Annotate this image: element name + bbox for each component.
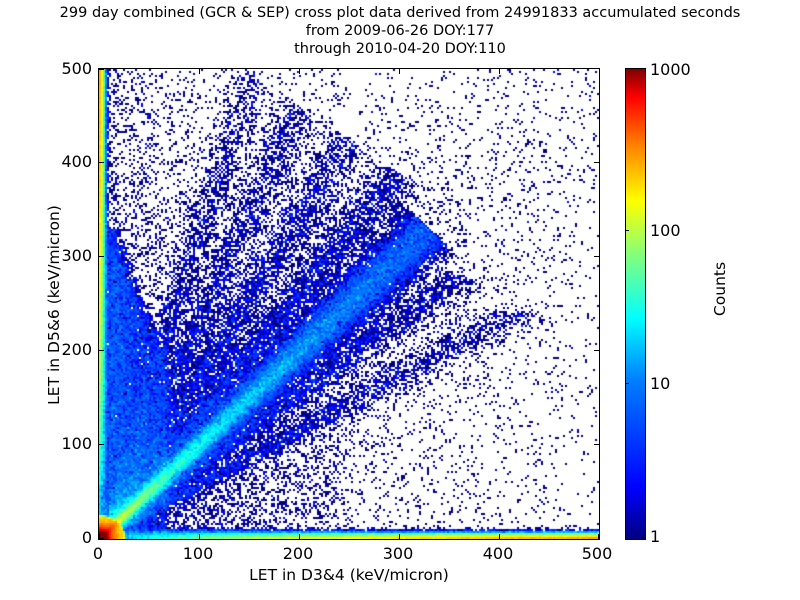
xticklabel-100: 100 bbox=[163, 544, 233, 563]
ytick-500 bbox=[99, 69, 104, 70]
xtick-top-400 bbox=[499, 69, 500, 74]
xtick-top-300 bbox=[399, 69, 400, 74]
cbticklabel-100: 100 bbox=[650, 221, 681, 240]
ytick-right-100 bbox=[594, 444, 599, 445]
xtick-top-200 bbox=[299, 69, 300, 74]
colorbar[interactable] bbox=[625, 68, 646, 540]
xticklabel-400: 400 bbox=[463, 544, 533, 563]
ytick-400 bbox=[99, 162, 104, 163]
scatter-density-canvas bbox=[99, 69, 599, 539]
xtick-400 bbox=[499, 534, 500, 539]
title-line-2: from 2009-06-26 DOY:177 bbox=[0, 22, 800, 40]
ytick-200 bbox=[99, 350, 104, 351]
figure-title: 299 day combined (GCR & SEP) cross plot … bbox=[0, 4, 800, 58]
cbtick-100 bbox=[625, 230, 629, 231]
ytick-100 bbox=[99, 444, 104, 445]
xticklabel-500: 500 bbox=[562, 544, 632, 563]
xticklabel-300: 300 bbox=[363, 544, 433, 563]
xtick-200 bbox=[299, 534, 300, 539]
ytick-0 bbox=[99, 538, 104, 539]
cbtick-10 bbox=[625, 383, 629, 384]
yticklabel-0: 0 bbox=[32, 528, 92, 547]
plot-area[interactable] bbox=[98, 68, 600, 540]
x-axis-label: LET in D3&4 (keV/micron) bbox=[98, 566, 600, 584]
xtick-500 bbox=[598, 534, 599, 539]
title-line-1: 299 day combined (GCR & SEP) cross plot … bbox=[0, 4, 800, 22]
ytick-300 bbox=[99, 256, 104, 257]
xtick-300 bbox=[399, 534, 400, 539]
cbticklabel-1: 1 bbox=[650, 527, 660, 546]
colorbar-label: Counts bbox=[711, 209, 729, 369]
xticklabel-200: 200 bbox=[263, 544, 333, 563]
ytick-right-200 bbox=[594, 350, 599, 351]
y-axis-label: LET in D5&6 (keV/micron) bbox=[45, 135, 63, 475]
title-line-3: through 2010-04-20 DOY:110 bbox=[0, 40, 800, 58]
xtick-top-100 bbox=[199, 69, 200, 74]
xtick-100 bbox=[199, 534, 200, 539]
cbticklabel-1000: 1000 bbox=[650, 60, 691, 79]
ytick-right-300 bbox=[594, 256, 599, 257]
ytick-right-400 bbox=[594, 162, 599, 163]
cbticklabel-10: 10 bbox=[650, 374, 670, 393]
yticklabel-500: 500 bbox=[32, 59, 92, 78]
